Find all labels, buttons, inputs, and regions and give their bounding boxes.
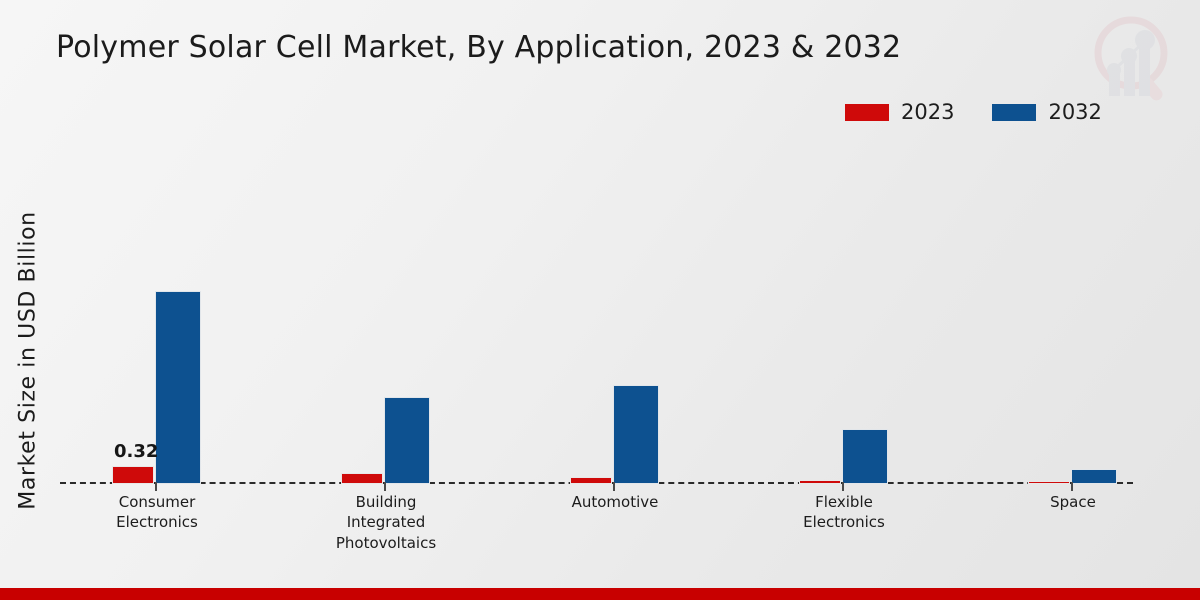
cat-line-3: Photovoltaics bbox=[301, 533, 471, 553]
legend-swatch-2032 bbox=[992, 104, 1036, 121]
x-axis-label-building-integrated-photovoltaics: Building Integrated Photovoltaics bbox=[301, 492, 471, 553]
chart-legend: 2023 2032 bbox=[845, 102, 1102, 123]
legend-label-2023: 2023 bbox=[901, 102, 954, 123]
chart-container: Polymer Solar Cell Market, By Applicatio… bbox=[0, 0, 1200, 600]
plot-area: 0.32 Consumer Electronics Building Integ… bbox=[60, 160, 1135, 484]
bar-2023-building-integrated-photovoltaics[interactable] bbox=[341, 473, 383, 484]
bar-2032-flexible-electronics[interactable] bbox=[842, 429, 888, 484]
bar-2032-consumer-electronics[interactable] bbox=[155, 291, 201, 484]
x-axis-label-space: Space bbox=[988, 492, 1158, 512]
y-axis-title: Market Size in USD Billion bbox=[16, 191, 41, 531]
bar-group-consumer-electronics: 0.32 Consumer Electronics bbox=[112, 160, 200, 484]
x-axis-tick-building-integrated-photovoltaics bbox=[384, 482, 386, 491]
cat-line-1: Consumer bbox=[72, 492, 242, 512]
cat-line-2: Integrated bbox=[301, 512, 471, 532]
legend-item-2023[interactable]: 2023 bbox=[845, 102, 954, 123]
bar-2023-space[interactable] bbox=[1028, 481, 1070, 484]
x-axis-tick-flexible-electronics bbox=[842, 482, 844, 491]
x-axis-label-automotive: Automotive bbox=[530, 492, 700, 512]
cat-line-1: Flexible bbox=[759, 492, 929, 512]
cat-line-1: Building bbox=[301, 492, 471, 512]
x-axis-label-consumer-electronics: Consumer Electronics bbox=[72, 492, 242, 533]
legend-item-2032[interactable]: 2032 bbox=[992, 102, 1101, 123]
bar-2032-space[interactable] bbox=[1071, 469, 1117, 484]
x-axis-tick-consumer-electronics bbox=[155, 482, 157, 491]
bar-2032-automotive[interactable] bbox=[613, 385, 659, 484]
legend-label-2032: 2032 bbox=[1048, 102, 1101, 123]
bar-group-flexible-electronics: Flexible Electronics bbox=[799, 160, 887, 484]
bar-group-automotive: Automotive bbox=[570, 160, 658, 484]
chart-title: Polymer Solar Cell Market, By Applicatio… bbox=[56, 30, 901, 65]
bar-2023-automotive[interactable] bbox=[570, 477, 612, 484]
x-axis-tick-space bbox=[1071, 482, 1073, 491]
bar-2023-consumer-electronics[interactable] bbox=[112, 466, 154, 484]
cat-line-2: Electronics bbox=[72, 512, 242, 532]
bar-2023-flexible-electronics[interactable] bbox=[799, 480, 841, 484]
footer-accent-bar bbox=[0, 588, 1200, 600]
bar-2032-building-integrated-photovoltaics[interactable] bbox=[384, 397, 430, 484]
x-axis-tick-automotive bbox=[613, 482, 615, 491]
cat-line-1: Automotive bbox=[530, 492, 700, 512]
cat-line-2: Electronics bbox=[759, 512, 929, 532]
cat-line-1: Space bbox=[988, 492, 1158, 512]
bar-group-space: Space bbox=[1028, 160, 1116, 484]
x-axis-label-flexible-electronics: Flexible Electronics bbox=[759, 492, 929, 533]
legend-swatch-2023 bbox=[845, 104, 889, 121]
watermark-logo-icon bbox=[1076, 8, 1186, 113]
bar-value-label-consumer-2023: 0.32 bbox=[114, 441, 158, 462]
bar-group-building-integrated-photovoltaics: Building Integrated Photovoltaics bbox=[341, 160, 429, 484]
